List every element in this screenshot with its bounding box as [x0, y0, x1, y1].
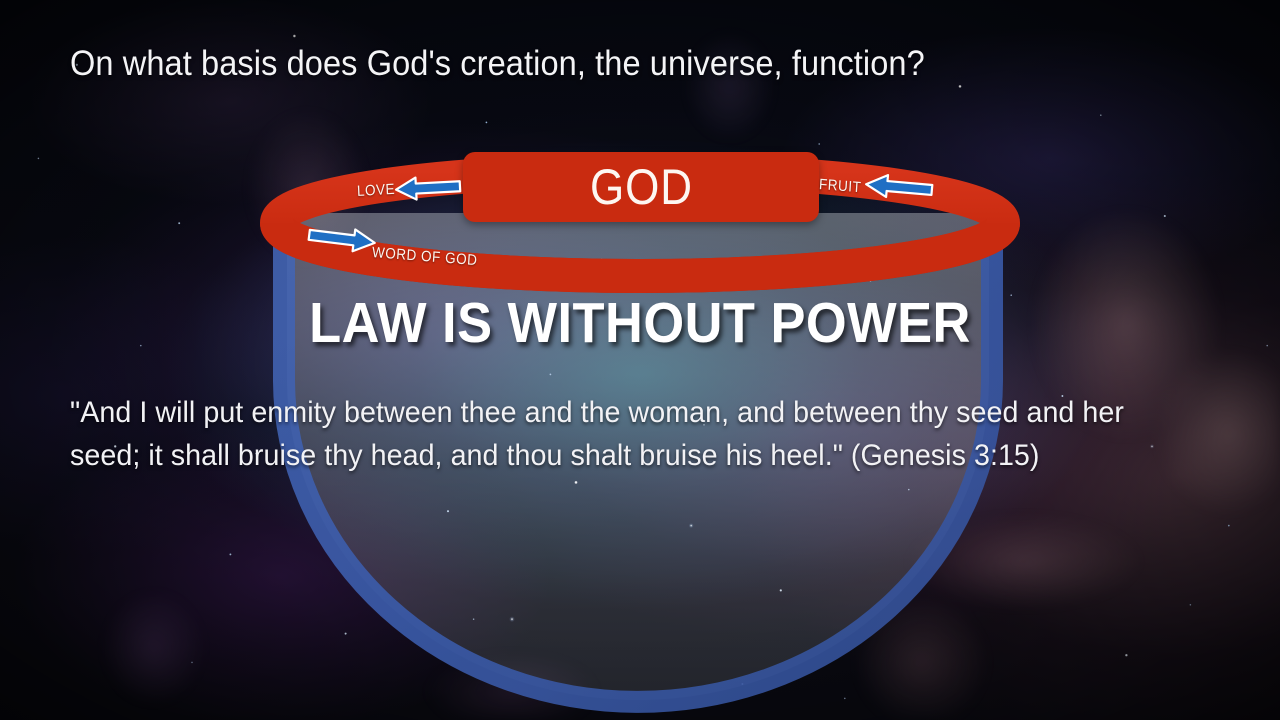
left-arrow-icon-love — [392, 176, 462, 200]
left-arrow-icon-fruit — [862, 174, 934, 200]
question-title: On what basis does God's creation, the u… — [70, 44, 1130, 84]
headline-text: LAW IS WITHOUT POWER — [51, 295, 1229, 352]
god-label: GOD — [590, 162, 693, 212]
slide-root: GOD LOVE FRUIT WORD OF GOD On what basis… — [0, 0, 1280, 720]
ring-label-fruit: FRUIT — [818, 176, 861, 196]
right-arrow-icon-word-of-god — [307, 226, 379, 252]
scripture-passage: "And I will put enmity between thee and … — [70, 392, 1180, 478]
ring-label-love: LOVE — [357, 181, 396, 200]
god-center-box[interactable]: GOD — [463, 152, 819, 222]
